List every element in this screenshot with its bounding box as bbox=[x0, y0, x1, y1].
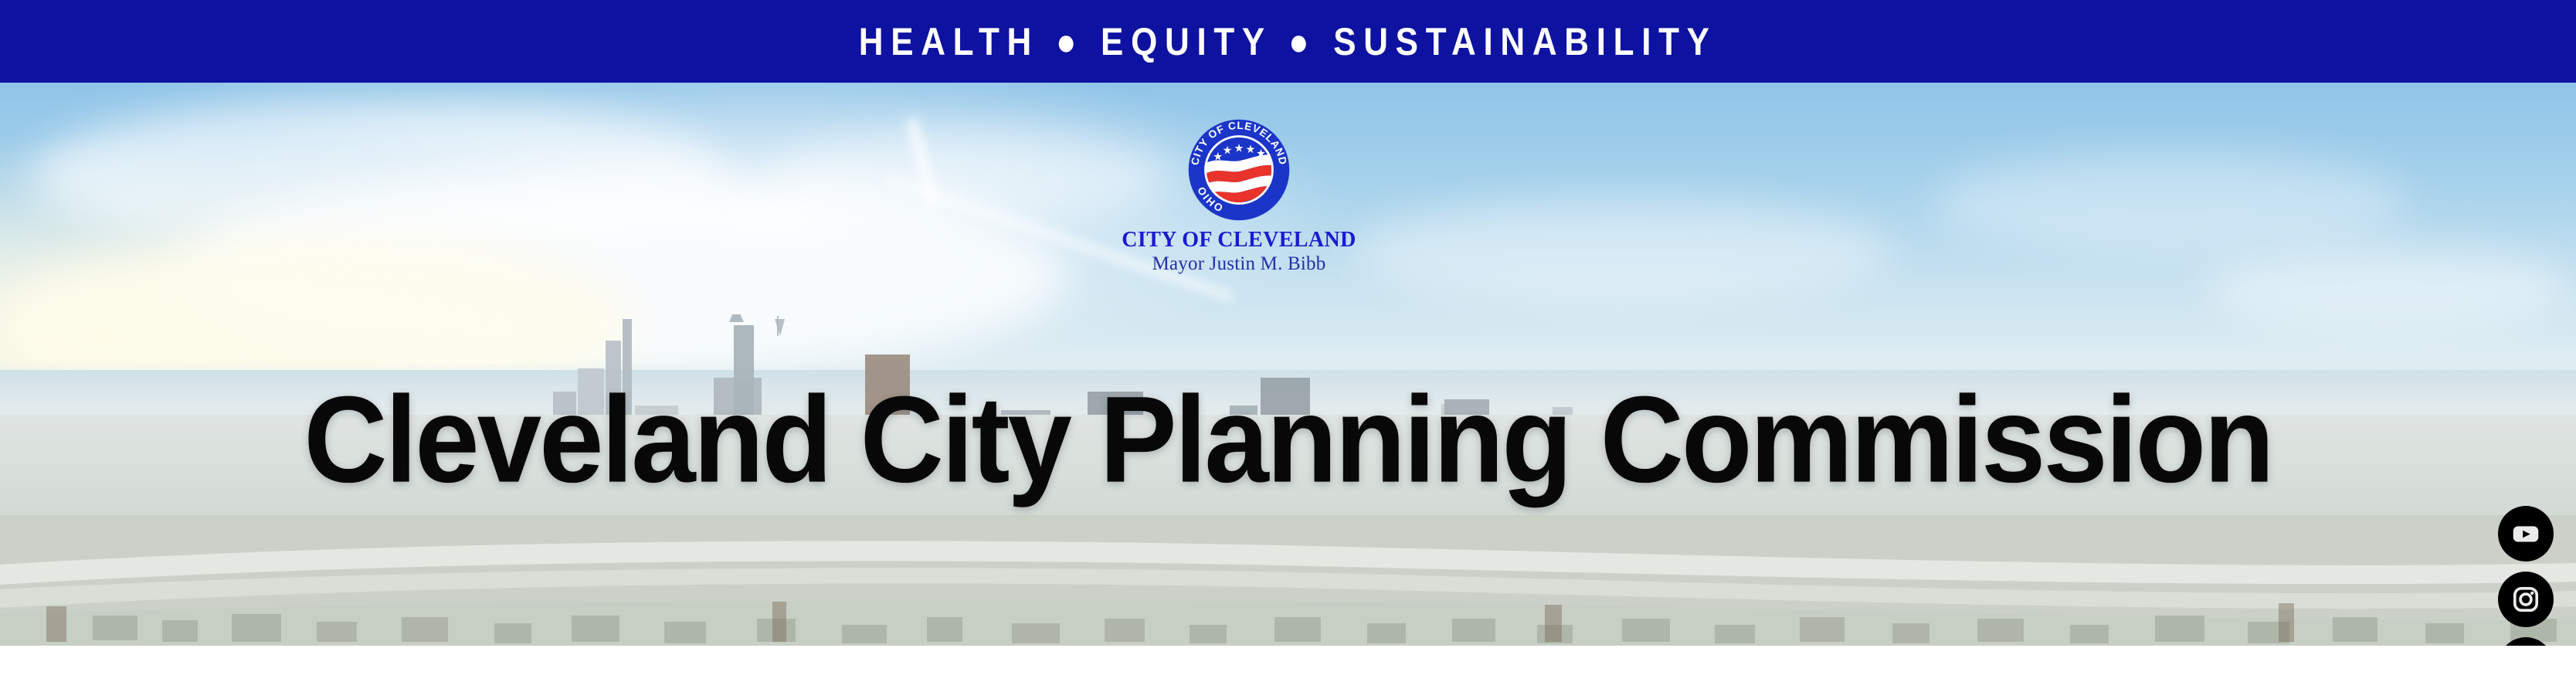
org-name: CITY OF CLEVELAND bbox=[1108, 229, 1370, 251]
tagline-bar: HEALTH ● EQUITY ● SUSTAINABILITY bbox=[0, 0, 2576, 83]
tagline-text: HEALTH ● EQUITY ● SUSTAINABILITY bbox=[859, 22, 1717, 61]
bottom-whitespace bbox=[0, 646, 2576, 682]
cloud bbox=[1931, 152, 2410, 253]
youtube-link[interactable] bbox=[2498, 506, 2554, 562]
city-of-cleveland-ohio-seal: CITY OF CLEVELAND OHIO bbox=[1186, 117, 1291, 222]
youtube-icon bbox=[2508, 516, 2544, 551]
social-media-rail bbox=[2493, 506, 2559, 646]
city-logo-lockup[interactable]: CITY OF CLEVELAND OHIO CITY OF CLEVELAND… bbox=[1108, 117, 1370, 275]
page-title: Cleveland City Planning Commission bbox=[0, 378, 2576, 500]
facebook-link[interactable] bbox=[2498, 637, 2554, 646]
mayor-name: Mayor Justin M. Bibb bbox=[1108, 254, 1370, 274]
cloud bbox=[1352, 198, 1892, 307]
foreground-neighborhood bbox=[0, 515, 2576, 646]
planning-commission-banner-page: HEALTH ● EQUITY ● SUSTAINABILITY bbox=[0, 0, 2576, 682]
instagram-link[interactable] bbox=[2498, 572, 2554, 627]
instagram-icon bbox=[2509, 582, 2543, 616]
hero-photo: CITY OF CLEVELAND OHIO CITY OF CLEVELAND… bbox=[0, 83, 2576, 646]
